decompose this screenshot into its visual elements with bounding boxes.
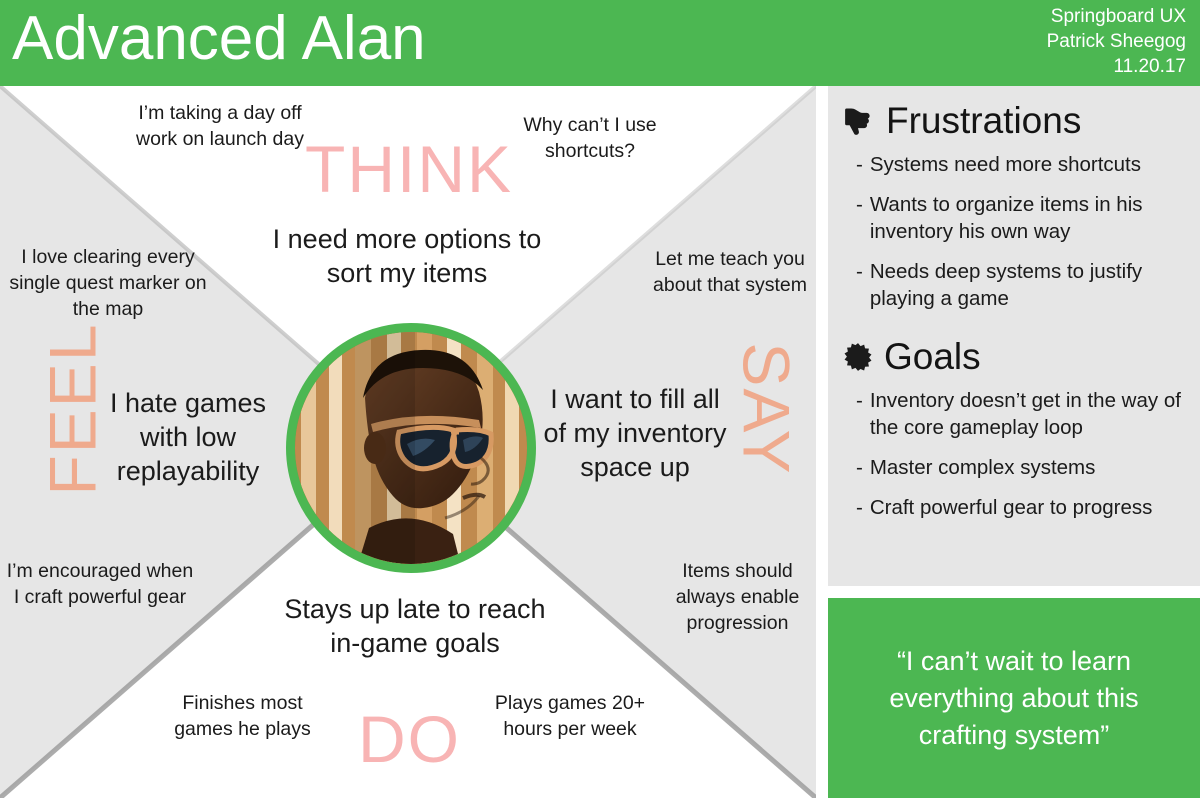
bullet-text: Inventory doesn’t get in the way of the … (870, 387, 1190, 441)
note-think-corner: I’m taking a day off work on launch day (120, 100, 320, 152)
frustrations-header: Frustrations (842, 102, 1190, 141)
list-item: - Inventory doesn’t get in the way of th… (838, 387, 1190, 441)
quadrant-label-say: SAY (734, 342, 800, 475)
bullet-dash: - (856, 258, 863, 312)
goals-list: - Inventory doesn’t get in the way of th… (838, 387, 1190, 521)
list-item: - Needs deep systems to justify playing … (838, 258, 1190, 312)
note-feel-bottom: I’m encouraged when I craft powerful gea… (5, 558, 195, 610)
bullet-text: Systems need more shortcuts (870, 151, 1190, 178)
avatar (286, 323, 536, 573)
header-date: 11.20.17 (1047, 54, 1186, 79)
note-say-top: Let me teach you about that system (650, 246, 810, 298)
header-author: Patrick Sheegog (1047, 29, 1186, 54)
info-panel: Frustrations - Systems need more shortcu… (828, 86, 1200, 586)
empathy-map-canvas: THINK FEEL SAY DO I’m taking a day off w… (0, 86, 816, 798)
bullet-text: Master complex systems (870, 454, 1190, 481)
list-item: - Systems need more shortcuts (838, 151, 1190, 178)
note-think-main: I need more options to sort my items (262, 222, 552, 290)
bullet-text: Craft powerful gear to progress (870, 494, 1190, 521)
header-org: Springboard UX (1047, 4, 1186, 29)
persona-poster: Advanced Alan Springboard UX Patrick She… (0, 0, 1200, 798)
persona-quote: “I can’t wait to learn everything about … (844, 643, 1184, 754)
avatar-photo (295, 332, 527, 564)
list-item: - Master complex systems (838, 454, 1190, 481)
bullet-dash: - (856, 191, 863, 245)
note-do-main: Stays up late to reach in-game goals (270, 592, 560, 660)
starburst-icon (842, 341, 874, 373)
frustrations-list: - Systems need more shortcuts - Wants to… (838, 151, 1190, 312)
bullet-dash: - (856, 454, 863, 481)
bullet-dash: - (856, 151, 863, 178)
page-title: Advanced Alan (12, 0, 426, 82)
header-bar: Advanced Alan Springboard UX Patrick She… (0, 0, 1200, 86)
right-column: Frustrations - Systems need more shortcu… (828, 86, 1200, 798)
quadrant-label-think: THINK (305, 136, 513, 202)
quote-panel: “I can’t wait to learn everything about … (828, 598, 1200, 798)
thumbs-down-icon (842, 104, 876, 138)
bullet-text: Wants to organize items in his inventory… (870, 191, 1190, 245)
quadrant-label-do: DO (358, 706, 461, 772)
note-think-right: Why can’t I use shortcuts? (490, 112, 690, 164)
list-item: - Wants to organize items in his invento… (838, 191, 1190, 245)
note-do-left: Finishes most games he plays (155, 690, 330, 742)
frustrations-title: Frustrations (886, 102, 1081, 141)
bullet-dash: - (856, 387, 863, 441)
goals-title: Goals (884, 338, 981, 377)
avatar-illustration (295, 332, 527, 564)
header-meta: Springboard UX Patrick Sheegog 11.20.17 (1047, 4, 1186, 79)
note-feel-top: I love clearing every single quest marke… (8, 244, 208, 322)
note-feel-main: I hate games with low replayability (88, 386, 288, 488)
note-do-right: Plays games 20+ hours per week (470, 690, 670, 742)
note-say-main: I want to fill all of my inventory space… (540, 382, 730, 484)
note-say-bottom: Items should always enable progression (660, 558, 815, 636)
bullet-dash: - (856, 494, 863, 521)
list-item: - Craft powerful gear to progress (838, 494, 1190, 521)
bullet-text: Needs deep systems to justify playing a … (870, 258, 1190, 312)
goals-header: Goals (842, 338, 1190, 377)
